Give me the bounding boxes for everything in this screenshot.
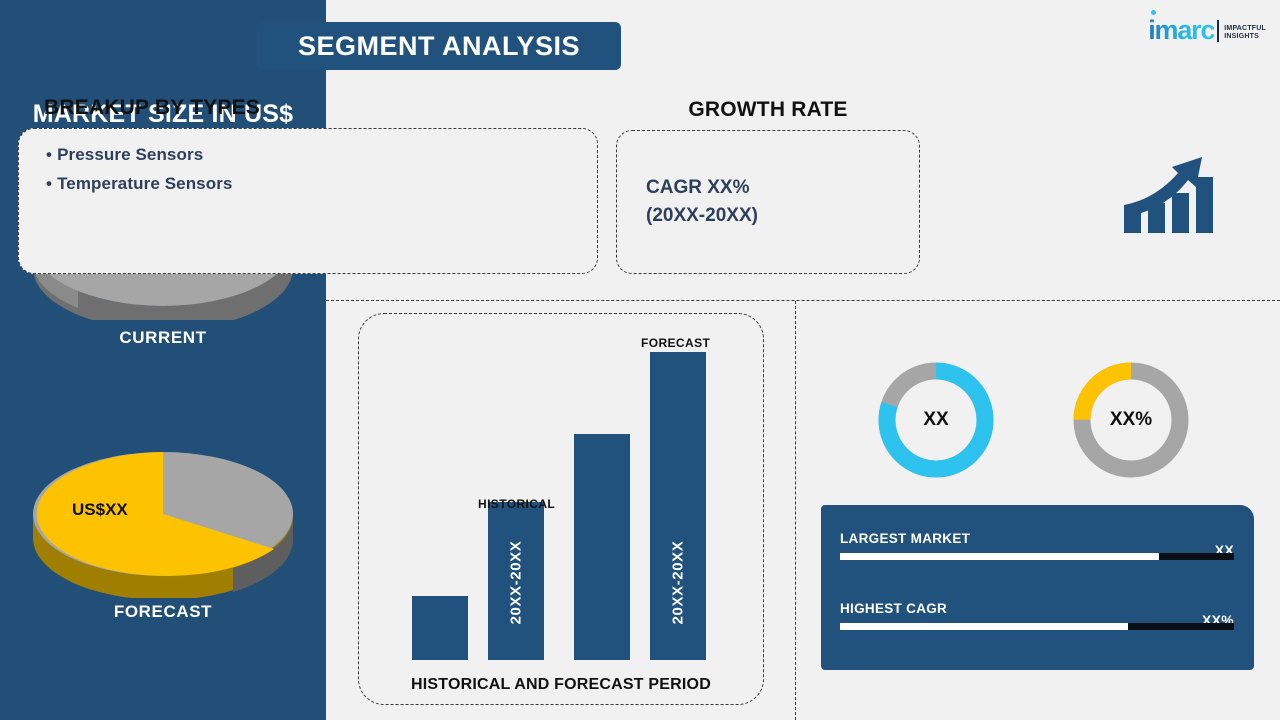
cagr-line-1: CAGR XX% <box>646 174 826 202</box>
logo-wordmark: imarc <box>1148 17 1214 44</box>
bullet-icon: • <box>46 145 52 164</box>
period-bar-chart: 20XX-20XX HISTORICAL 20XX-20XX FORECAST <box>396 340 726 660</box>
logo-word-text: imarc <box>1148 17 1214 44</box>
breakup-by-types-heading: BREAKUP BY TYPES <box>44 96 260 120</box>
period-chart-caption: HISTORICAL AND FORECAST PERIOD <box>358 676 764 694</box>
forecast-pie-slice-label: US$XX <box>72 500 128 520</box>
highest-cagr-progress-fill <box>840 623 1128 630</box>
stat-row: LARGEST MARKET XX <box>840 530 1234 560</box>
growth-rate-heading: GROWTH RATE <box>616 98 920 122</box>
key-stats-panel: LARGEST MARKET XX HIGHEST CAGR XX% <box>821 505 1254 670</box>
growth-bar-arrow-icon <box>1120 143 1216 240</box>
current-pie-label: CURRENT <box>0 328 326 348</box>
cagr-text-block: CAGR XX% (20XX-20XX) <box>646 174 826 230</box>
highest-cagr-donut: XX% <box>1070 359 1192 481</box>
page-title: SEGMENT ANALYSIS <box>298 31 580 62</box>
highest-cagr-label: HIGHEST CAGR <box>840 601 947 616</box>
bar-4-label-wrap: 20XX-20XX <box>650 522 706 642</box>
forecast-pie-chart: US$XX <box>28 438 298 588</box>
type-item-label: Temperature Sensors <box>57 174 232 193</box>
largest-market-donut: XX <box>875 359 997 481</box>
forecast-annotation: FORECAST <box>641 336 710 350</box>
bar-2-period-label: 20XX-20XX <box>508 540 525 624</box>
type-list-item: •Pressure Sensors <box>46 140 233 169</box>
largest-market-donut-value: XX <box>875 359 997 481</box>
horizontal-divider <box>326 300 1280 301</box>
bar-4: 20XX-20XX <box>650 352 706 660</box>
logo-divider-bar <box>1217 20 1219 42</box>
largest-market-progress-fill <box>840 553 1159 560</box>
largest-market-label: LARGEST MARKET <box>840 531 970 546</box>
type-list-item: •Temperature Sensors <box>46 169 233 198</box>
logo-tagline: IMPACTFUL INSIGHTS <box>1224 25 1266 41</box>
bar-1 <box>412 596 468 660</box>
logo-tagline-line1: IMPACTFUL <box>1224 25 1266 33</box>
page-title-band: SEGMENT ANALYSIS <box>257 22 621 70</box>
bar-2: 20XX-20XX <box>488 502 544 660</box>
highest-cagr-progress-track <box>840 623 1234 630</box>
forecast-pie-label: FORECAST <box>0 602 326 622</box>
bar-4-period-label: 20XX-20XX <box>670 540 687 624</box>
type-item-label: Pressure Sensors <box>57 145 203 164</box>
vertical-divider <box>795 301 796 720</box>
stat-row: HIGHEST CAGR XX% <box>840 600 1234 630</box>
forecast-pie-group: US$XX FORECAST <box>0 438 326 622</box>
bullet-icon: • <box>46 174 52 193</box>
cagr-line-2: (20XX-20XX) <box>646 202 826 230</box>
largest-market-progress-track <box>840 553 1234 560</box>
logo-tagline-line2: INSIGHTS <box>1224 33 1266 41</box>
highest-cagr-donut-value: XX% <box>1070 359 1192 481</box>
bar-3 <box>574 434 630 660</box>
bar-2-label-wrap: 20XX-20XX <box>488 522 544 642</box>
types-list: •Pressure Sensors •Temperature Sensors <box>46 140 233 198</box>
imarc-logo: imarc IMPACTFUL INSIGHTS <box>1148 12 1266 44</box>
historical-annotation: HISTORICAL <box>478 497 555 511</box>
